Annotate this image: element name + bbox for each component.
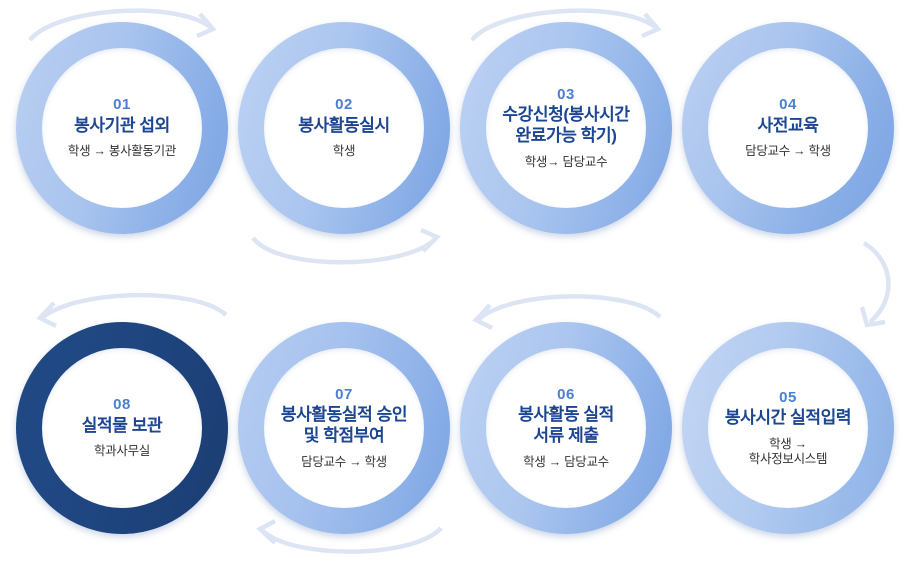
step-node-07[interactable]: 07 봉사활동실적 승인 및 학점부여 담당교수 → 학생	[238, 322, 450, 534]
step-actor-04: 담당교수 → 학생	[745, 144, 831, 159]
step-title-06: 봉사활동 실적 서류 제출	[518, 405, 614, 446]
step-actor-08: 학과사무실	[94, 444, 150, 459]
step-node-04[interactable]: 04 사전교육 담당교수 → 학생	[682, 22, 894, 234]
step-content-06: 06 봉사활동 실적 서류 제출 학생 → 담당교수	[482, 322, 650, 534]
step-content-02: 02 봉사활동실시 학생	[260, 22, 428, 234]
step-content-05: 05 봉사시간 실적입력 학생 → 학사정보시스템	[704, 322, 872, 534]
step-content-01: 01 봉사기관 섭외 학생 → 봉사활동기관	[38, 22, 206, 234]
step-actor-05: 학생 → 학사정보시스템	[749, 437, 827, 468]
step-title-07: 봉사활동실적 승인 및 학점부여	[281, 405, 407, 446]
step-node-02[interactable]: 02 봉사활동실시 학생	[238, 22, 450, 234]
connector-04-to-05	[862, 243, 888, 325]
step-node-03[interactable]: 03 수강신청(봉사시간 완료가능 학기) 학생→ 담당교수	[460, 22, 672, 234]
process-flow-diagram: 01 봉사기관 섭외 학생 → 봉사활동기관 02 봉사활동실시 학생 03 수…	[0, 0, 915, 566]
step-number-07: 07	[335, 386, 353, 404]
step-node-08[interactable]: 08 실적물 보관 학과사무실	[16, 322, 228, 534]
step-number-01: 01	[113, 96, 131, 114]
connector-02-to-03	[253, 230, 437, 262]
step-node-01[interactable]: 01 봉사기관 섭외 학생 → 봉사활동기관	[16, 22, 228, 234]
step-actor-07: 담당교수 → 학생	[301, 455, 387, 470]
step-node-05[interactable]: 05 봉사시간 실적입력 학생 → 학사정보시스템	[682, 322, 894, 534]
step-number-02: 02	[335, 96, 353, 114]
step-content-07: 07 봉사활동실적 승인 및 학점부여 담당교수 → 학생	[260, 322, 428, 534]
step-title-08: 실적물 보관	[82, 416, 163, 437]
step-number-08: 08	[113, 396, 131, 414]
step-actor-02: 학생	[333, 144, 355, 159]
step-title-02: 봉사활동실시	[298, 116, 389, 137]
step-content-04: 04 사전교육 담당교수 → 학생	[704, 22, 872, 234]
step-content-03: 03 수강신청(봉사시간 완료가능 학기) 학생→ 담당교수	[482, 22, 650, 234]
step-title-05: 봉사시간 실적입력	[725, 408, 851, 429]
step-actor-01: 학생 → 봉사활동기관	[68, 144, 176, 159]
step-title-01: 봉사기관 섭외	[74, 116, 170, 137]
step-number-05: 05	[779, 389, 797, 407]
step-content-08: 08 실적물 보관 학과사무실	[38, 322, 206, 534]
step-actor-06: 학생 → 담당교수	[523, 455, 609, 470]
step-actor-03: 학생→ 담당교수	[525, 155, 608, 170]
step-title-03: 수강신청(봉사시간 완료가능 학기)	[502, 105, 629, 146]
step-node-06[interactable]: 06 봉사활동 실적 서류 제출 학생 → 담당교수	[460, 322, 672, 534]
step-number-06: 06	[557, 386, 575, 404]
step-title-04: 사전교육	[758, 116, 819, 137]
step-number-03: 03	[557, 86, 575, 104]
step-number-04: 04	[779, 96, 797, 114]
